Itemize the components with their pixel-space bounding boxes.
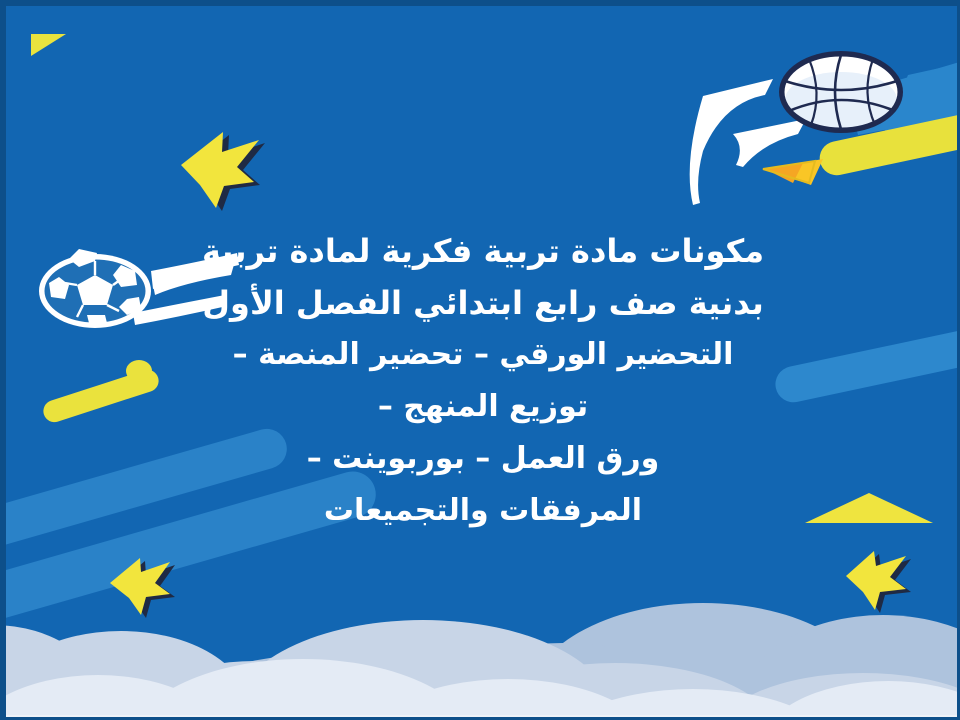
cloud-baseline: [3, 715, 960, 720]
basketball-icon: [690, 51, 903, 205]
triangle-top-right-orange: [763, 159, 823, 185]
star-top-left: [181, 132, 265, 211]
title-line-4: توزيع المنهج –: [133, 381, 833, 433]
title-line-3: التحضير الورقي – تحضير المنصة –: [133, 329, 833, 381]
cloud-layer-mid: [3, 620, 960, 720]
yellow-bar-top-right: [817, 106, 960, 179]
light-blue-stripe-top-right: [848, 61, 960, 135]
title-line-1: مكونات مادة تربية فكرية لمادة تربية: [133, 225, 833, 277]
title-line-5: ورق العمل – بوربوينت –: [133, 433, 833, 485]
triangle-top-left: [31, 34, 66, 56]
star-bottom-left: [110, 558, 175, 618]
title-line-2: بدنية صف رابع ابتدائي الفصل الأول: [133, 277, 833, 329]
cloud-layer-front: [3, 659, 960, 720]
cloud-layer-back: [3, 603, 960, 720]
slide-title-block: مكونات مادة تربية فكرية لمادة تربية بدني…: [133, 225, 833, 537]
star-bottom-right: [846, 551, 911, 613]
title-line-6: المرفقات والتجميعات: [133, 485, 833, 537]
slide-canvas: مكونات مادة تربية فكرية لمادة تربية بدني…: [0, 0, 960, 720]
